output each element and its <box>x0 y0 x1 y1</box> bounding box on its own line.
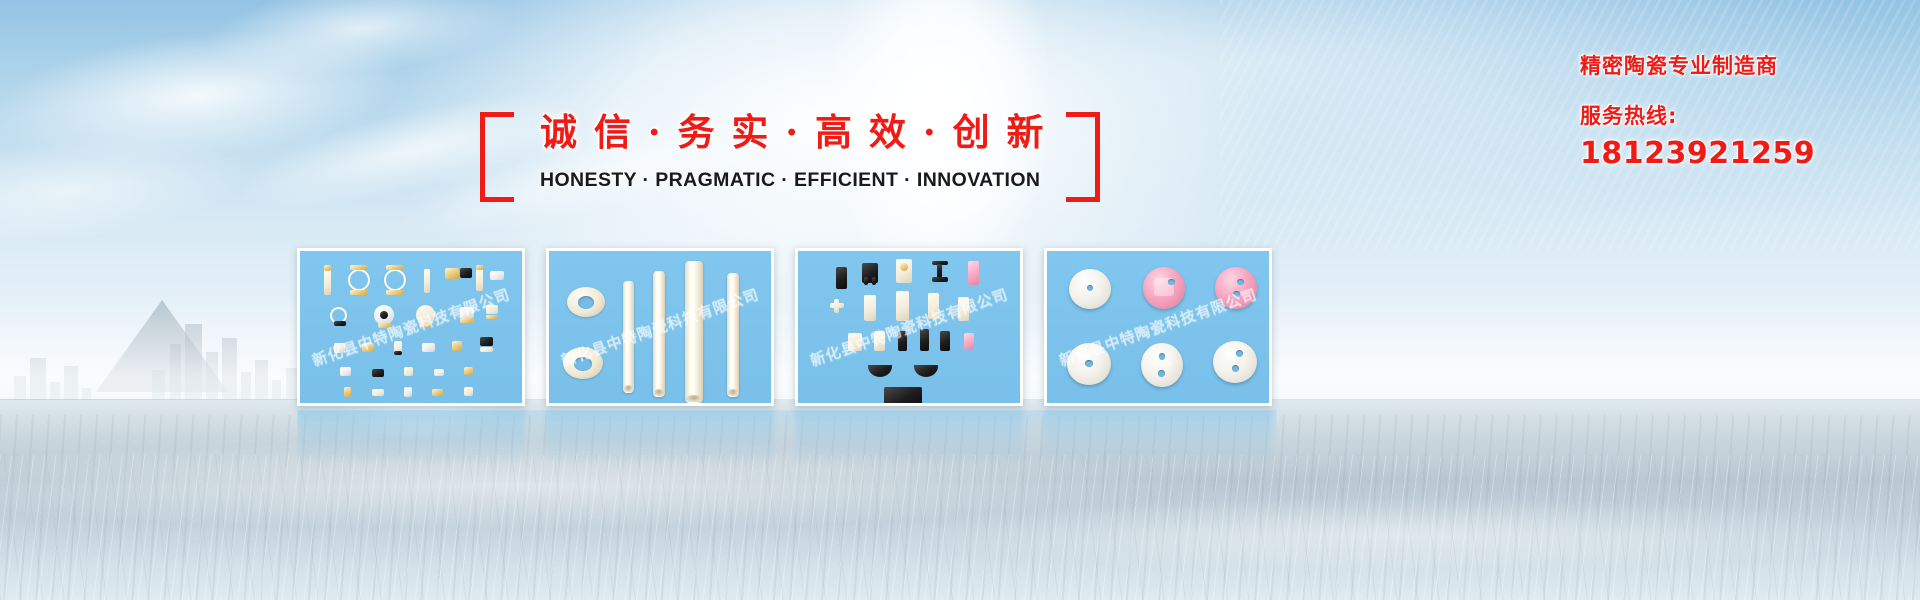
hotline-label: 服务热线: <box>1580 100 1890 130</box>
product-panel-row: 新化县中特陶瓷科技有限公司 新化县中特陶瓷科技有限公 <box>297 248 1277 408</box>
ceramic-disc-2 <box>1143 267 1185 309</box>
ceramic-disc-6 <box>1213 341 1257 383</box>
product-panel-3[interactable]: 新化县中特陶瓷科技有限公司 <box>795 248 1023 406</box>
ceramic-collar-bottom <box>563 347 603 379</box>
panel-1-photo: 新化县中特陶瓷科技有限公司 <box>300 251 522 403</box>
hero-banner: 诚 信 · 务 实 · 高 效 · 创 新 HONESTY · PRAGMATI… <box>0 0 1920 600</box>
bracket-right-icon <box>1066 112 1100 202</box>
ceramic-rod-1 <box>623 281 634 393</box>
bracket-left-icon <box>480 112 514 202</box>
slogan-english: HONESTY · PRAGMATIC · EFFICIENT · INNOVA… <box>540 169 1040 192</box>
water-ripples <box>0 455 1920 600</box>
slogan-chinese: 诚 信 · 务 实 · 高 效 · 创 新 <box>540 108 1040 156</box>
ceramic-rod-3 <box>685 261 703 403</box>
panel-2-photo: 新化县中特陶瓷科技有限公司 <box>549 251 771 403</box>
panel-1-watermark: 新化县中特陶瓷科技有限公司 <box>309 283 513 371</box>
panel-3-watermark: 新化县中特陶瓷科技有限公司 <box>807 283 1011 371</box>
ceramic-rod-4 <box>727 273 739 397</box>
ceramic-disc-3 <box>1215 267 1257 309</box>
company-tagline: 精密陶瓷专业制造商 <box>1580 50 1890 80</box>
panel-reflections <box>297 410 1277 470</box>
ceramic-disc-5 <box>1141 343 1183 387</box>
ceramic-rod-2 <box>653 271 665 397</box>
product-panel-1[interactable]: 新化县中特陶瓷科技有限公司 <box>297 248 525 406</box>
ceramic-disc-1 <box>1069 269 1111 309</box>
product-panel-2[interactable]: 新化县中特陶瓷科技有限公司 <box>546 248 774 406</box>
ceramic-disc-4 <box>1067 343 1111 385</box>
product-panel-4[interactable]: 新化县中特陶瓷科技有限公司 <box>1044 248 1272 406</box>
panel-4-photo: 新化县中特陶瓷科技有限公司 <box>1047 251 1269 403</box>
contact-block: 精密陶瓷专业制造商 服务热线: 18123921259 <box>1580 50 1890 171</box>
panel-3-photo: 新化县中特陶瓷科技有限公司 <box>798 251 1020 403</box>
ceramic-collar-top <box>567 287 605 317</box>
hotline-number[interactable]: 18123921259 <box>1580 136 1890 171</box>
slogan-block: 诚 信 · 务 实 · 高 效 · 创 新 HONESTY · PRAGMATI… <box>480 112 1100 202</box>
